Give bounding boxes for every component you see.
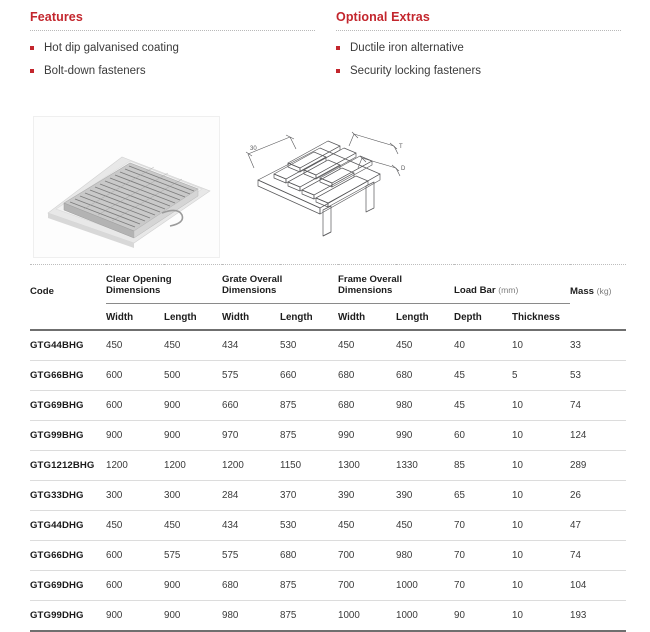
subheader-load-bar-depth: Depth xyxy=(454,304,512,331)
cell-clear-length: 575 xyxy=(164,541,222,571)
list-item-label: Security locking fasteners xyxy=(350,65,481,77)
table-row: GTG69DHG60090068087570010007010104 xyxy=(30,571,626,601)
cell-load-bar-thickness: 10 xyxy=(512,541,570,571)
cell-code: GTG1212BHG xyxy=(30,451,106,481)
cell-frame-width: 700 xyxy=(338,571,396,601)
table-row: GTG44DHG450450434530450450701047 xyxy=(30,511,626,541)
group-header-frame-overall: Frame Overall Dimensions xyxy=(338,265,454,304)
subheader-grate-length: Length xyxy=(280,304,338,331)
cell-grate-width: 1200 xyxy=(222,451,280,481)
list-item: Ductile iron alternative xyxy=(336,42,621,55)
features-column: Features Hot dip galvanised coating Bolt… xyxy=(30,10,315,88)
table-body: GTG44BHG450450434530450450401033GTG66BHG… xyxy=(30,330,626,631)
cell-grate-width: 970 xyxy=(222,421,280,451)
cell-frame-width: 1300 xyxy=(338,451,396,481)
cell-frame-length: 450 xyxy=(396,330,454,361)
dimension-label-t: T xyxy=(399,144,403,150)
cell-load-bar-thickness: 10 xyxy=(512,601,570,632)
table-row: GTG66DHG600575575680700980701074 xyxy=(30,541,626,571)
cell-load-bar-depth: 70 xyxy=(454,571,512,601)
group-header-grate-overall: Grate Overall Dimensions xyxy=(222,265,338,304)
table-row: GTG44BHG450450434530450450401033 xyxy=(30,330,626,361)
cell-code: GTG69BHG xyxy=(30,391,106,421)
cell-clear-width: 600 xyxy=(106,391,164,421)
list-item: Bolt-down fasteners xyxy=(30,65,315,78)
cell-mass: 104 xyxy=(570,571,626,601)
cell-code: GTG69DHG xyxy=(30,571,106,601)
dimension-label-d: D xyxy=(401,166,406,172)
cell-grate-width: 434 xyxy=(222,330,280,361)
optional-extras-list: Ductile iron alternative Security lockin… xyxy=(336,42,621,78)
cell-grate-width: 980 xyxy=(222,601,280,632)
cell-load-bar-thickness: 10 xyxy=(512,571,570,601)
cell-code: GTG99BHG xyxy=(30,421,106,451)
technical-drawing: 30 T D xyxy=(228,122,418,258)
cell-code: GTG44DHG xyxy=(30,511,106,541)
cell-grate-length: 680 xyxy=(280,541,338,571)
cell-code: GTG66DHG xyxy=(30,541,106,571)
bullet-square-icon xyxy=(336,46,340,50)
list-item-label: Ductile iron alternative xyxy=(350,42,464,54)
bullet-square-icon xyxy=(30,69,34,73)
cell-clear-length: 900 xyxy=(164,601,222,632)
cell-grate-length: 1150 xyxy=(280,451,338,481)
cell-clear-length: 300 xyxy=(164,481,222,511)
subheader-clear-length: Length xyxy=(164,304,222,331)
cell-mass: 26 xyxy=(570,481,626,511)
cell-frame-length: 450 xyxy=(396,511,454,541)
cell-frame-width: 990 xyxy=(338,421,396,451)
subheader-mass-blank xyxy=(570,304,626,331)
optional-extras-column: Optional Extras Ductile iron alternative… xyxy=(336,10,621,88)
grate-photo-illustration xyxy=(34,117,219,257)
table-row: GTG1212BHG120012001200115013001330851028… xyxy=(30,451,626,481)
cell-grate-width: 680 xyxy=(222,571,280,601)
cell-load-bar-depth: 90 xyxy=(454,601,512,632)
group-header-load-bar: Load Bar (mm) xyxy=(454,265,570,304)
cell-load-bar-depth: 60 xyxy=(454,421,512,451)
cell-frame-width: 680 xyxy=(338,391,396,421)
datasheet-page: Features Hot dip galvanised coating Bolt… xyxy=(0,0,650,605)
grate-line-drawing: 30 T D xyxy=(228,122,418,258)
cell-load-bar-depth: 70 xyxy=(454,541,512,571)
cell-clear-width: 900 xyxy=(106,601,164,632)
cell-load-bar-depth: 45 xyxy=(454,391,512,421)
cell-mass: 53 xyxy=(570,361,626,391)
cell-frame-length: 980 xyxy=(396,391,454,421)
cell-clear-length: 450 xyxy=(164,511,222,541)
cell-clear-length: 1200 xyxy=(164,451,222,481)
subheader-clear-width: Width xyxy=(106,304,164,331)
product-photo xyxy=(33,116,220,258)
cell-load-bar-thickness: 10 xyxy=(512,421,570,451)
cell-code: GTG99DHG xyxy=(30,601,106,632)
dimension-label-30: 30 xyxy=(250,146,257,152)
cell-load-bar-thickness: 10 xyxy=(512,330,570,361)
cell-load-bar-thickness: 10 xyxy=(512,391,570,421)
cell-clear-length: 450 xyxy=(164,330,222,361)
cell-frame-width: 700 xyxy=(338,541,396,571)
cell-grate-length: 875 xyxy=(280,391,338,421)
cell-code: GTG44BHG xyxy=(30,330,106,361)
cell-grate-width: 284 xyxy=(222,481,280,511)
drawing-dimension-labels: 30 T D xyxy=(250,144,406,172)
cell-grate-length: 530 xyxy=(280,511,338,541)
group-header-clear-opening: Clear Opening Dimensions xyxy=(106,265,222,304)
cell-clear-width: 600 xyxy=(106,571,164,601)
cell-frame-length: 390 xyxy=(396,481,454,511)
cell-clear-width: 900 xyxy=(106,421,164,451)
cell-clear-length: 900 xyxy=(164,391,222,421)
optional-extras-divider xyxy=(336,30,621,32)
cell-mass: 47 xyxy=(570,511,626,541)
cell-load-bar-thickness: 10 xyxy=(512,481,570,511)
cell-frame-length: 680 xyxy=(396,361,454,391)
cell-frame-width: 450 xyxy=(338,330,396,361)
list-item-label: Hot dip galvanised coating xyxy=(44,42,179,54)
optional-extras-heading: Optional Extras xyxy=(336,10,621,24)
list-item-label: Bolt-down fasteners xyxy=(44,65,146,77)
cell-load-bar-thickness: 10 xyxy=(512,451,570,481)
specification-table-wrapper: Code Clear Opening Dimensions Grate Over… xyxy=(30,264,624,632)
cell-load-bar-depth: 70 xyxy=(454,511,512,541)
cell-code: GTG66BHG xyxy=(30,361,106,391)
cell-frame-length: 1000 xyxy=(396,601,454,632)
table-subheader-row: Width Length Width Length Width Length D… xyxy=(30,304,626,331)
bullet-square-icon xyxy=(30,46,34,50)
group-header-load-bar-unit: (mm) xyxy=(498,285,518,295)
cell-grate-width: 660 xyxy=(222,391,280,421)
cell-clear-length: 900 xyxy=(164,571,222,601)
cell-mass: 124 xyxy=(570,421,626,451)
features-divider xyxy=(30,30,315,32)
cell-load-bar-depth: 40 xyxy=(454,330,512,361)
cell-load-bar-depth: 85 xyxy=(454,451,512,481)
cell-clear-width: 600 xyxy=(106,541,164,571)
cell-clear-width: 1200 xyxy=(106,451,164,481)
subheader-grate-width: Width xyxy=(222,304,280,331)
cell-grate-width: 434 xyxy=(222,511,280,541)
cell-grate-length: 370 xyxy=(280,481,338,511)
table-row: GTG33DHG300300284370390390651026 xyxy=(30,481,626,511)
cell-frame-width: 390 xyxy=(338,481,396,511)
cell-clear-width: 450 xyxy=(106,330,164,361)
table-row: GTG69BHG600900660875680980451074 xyxy=(30,391,626,421)
cell-frame-length: 990 xyxy=(396,421,454,451)
list-item: Hot dip galvanised coating xyxy=(30,42,315,55)
bullet-square-icon xyxy=(336,69,340,73)
cell-frame-width: 680 xyxy=(338,361,396,391)
list-item: Security locking fasteners xyxy=(336,65,621,78)
cell-clear-width: 300 xyxy=(106,481,164,511)
cell-clear-width: 450 xyxy=(106,511,164,541)
cell-grate-width: 575 xyxy=(222,361,280,391)
cell-frame-length: 1330 xyxy=(396,451,454,481)
features-list: Hot dip galvanised coating Bolt-down fas… xyxy=(30,42,315,78)
cell-frame-width: 1000 xyxy=(338,601,396,632)
cell-frame-width: 450 xyxy=(338,511,396,541)
cell-load-bar-depth: 65 xyxy=(454,481,512,511)
cell-grate-length: 660 xyxy=(280,361,338,391)
cell-mass: 74 xyxy=(570,541,626,571)
cell-code: GTG33DHG xyxy=(30,481,106,511)
cell-grate-width: 575 xyxy=(222,541,280,571)
table-row: GTG66BHG60050057566068068045553 xyxy=(30,361,626,391)
table-row: GTG99BHG9009009708759909906010124 xyxy=(30,421,626,451)
group-header-mass: Mass (kg) xyxy=(570,265,626,304)
features-heading: Features xyxy=(30,10,315,24)
cell-mass: 289 xyxy=(570,451,626,481)
subheader-load-bar-thickness: Thickness xyxy=(512,304,570,331)
specification-table: Code Clear Opening Dimensions Grate Over… xyxy=(30,264,626,632)
cell-grate-length: 530 xyxy=(280,330,338,361)
cell-clear-length: 500 xyxy=(164,361,222,391)
cell-frame-length: 1000 xyxy=(396,571,454,601)
cell-mass: 74 xyxy=(570,391,626,421)
cell-grate-length: 875 xyxy=(280,571,338,601)
group-header-mass-unit: (kg) xyxy=(597,286,612,296)
cell-grate-length: 875 xyxy=(280,421,338,451)
table-group-header-row: Code Clear Opening Dimensions Grate Over… xyxy=(30,265,626,304)
cell-clear-length: 900 xyxy=(164,421,222,451)
cell-load-bar-depth: 45 xyxy=(454,361,512,391)
subheader-blank xyxy=(30,304,106,331)
cell-mass: 193 xyxy=(570,601,626,632)
cell-frame-length: 980 xyxy=(396,541,454,571)
subheader-frame-length: Length xyxy=(396,304,454,331)
cell-load-bar-thickness: 10 xyxy=(512,511,570,541)
subheader-frame-width: Width xyxy=(338,304,396,331)
group-header-code: Code xyxy=(30,265,106,304)
cell-clear-width: 600 xyxy=(106,361,164,391)
cell-mass: 33 xyxy=(570,330,626,361)
cell-grate-length: 875 xyxy=(280,601,338,632)
table-row: GTG99DHG900900980875100010009010193 xyxy=(30,601,626,632)
cell-load-bar-thickness: 5 xyxy=(512,361,570,391)
